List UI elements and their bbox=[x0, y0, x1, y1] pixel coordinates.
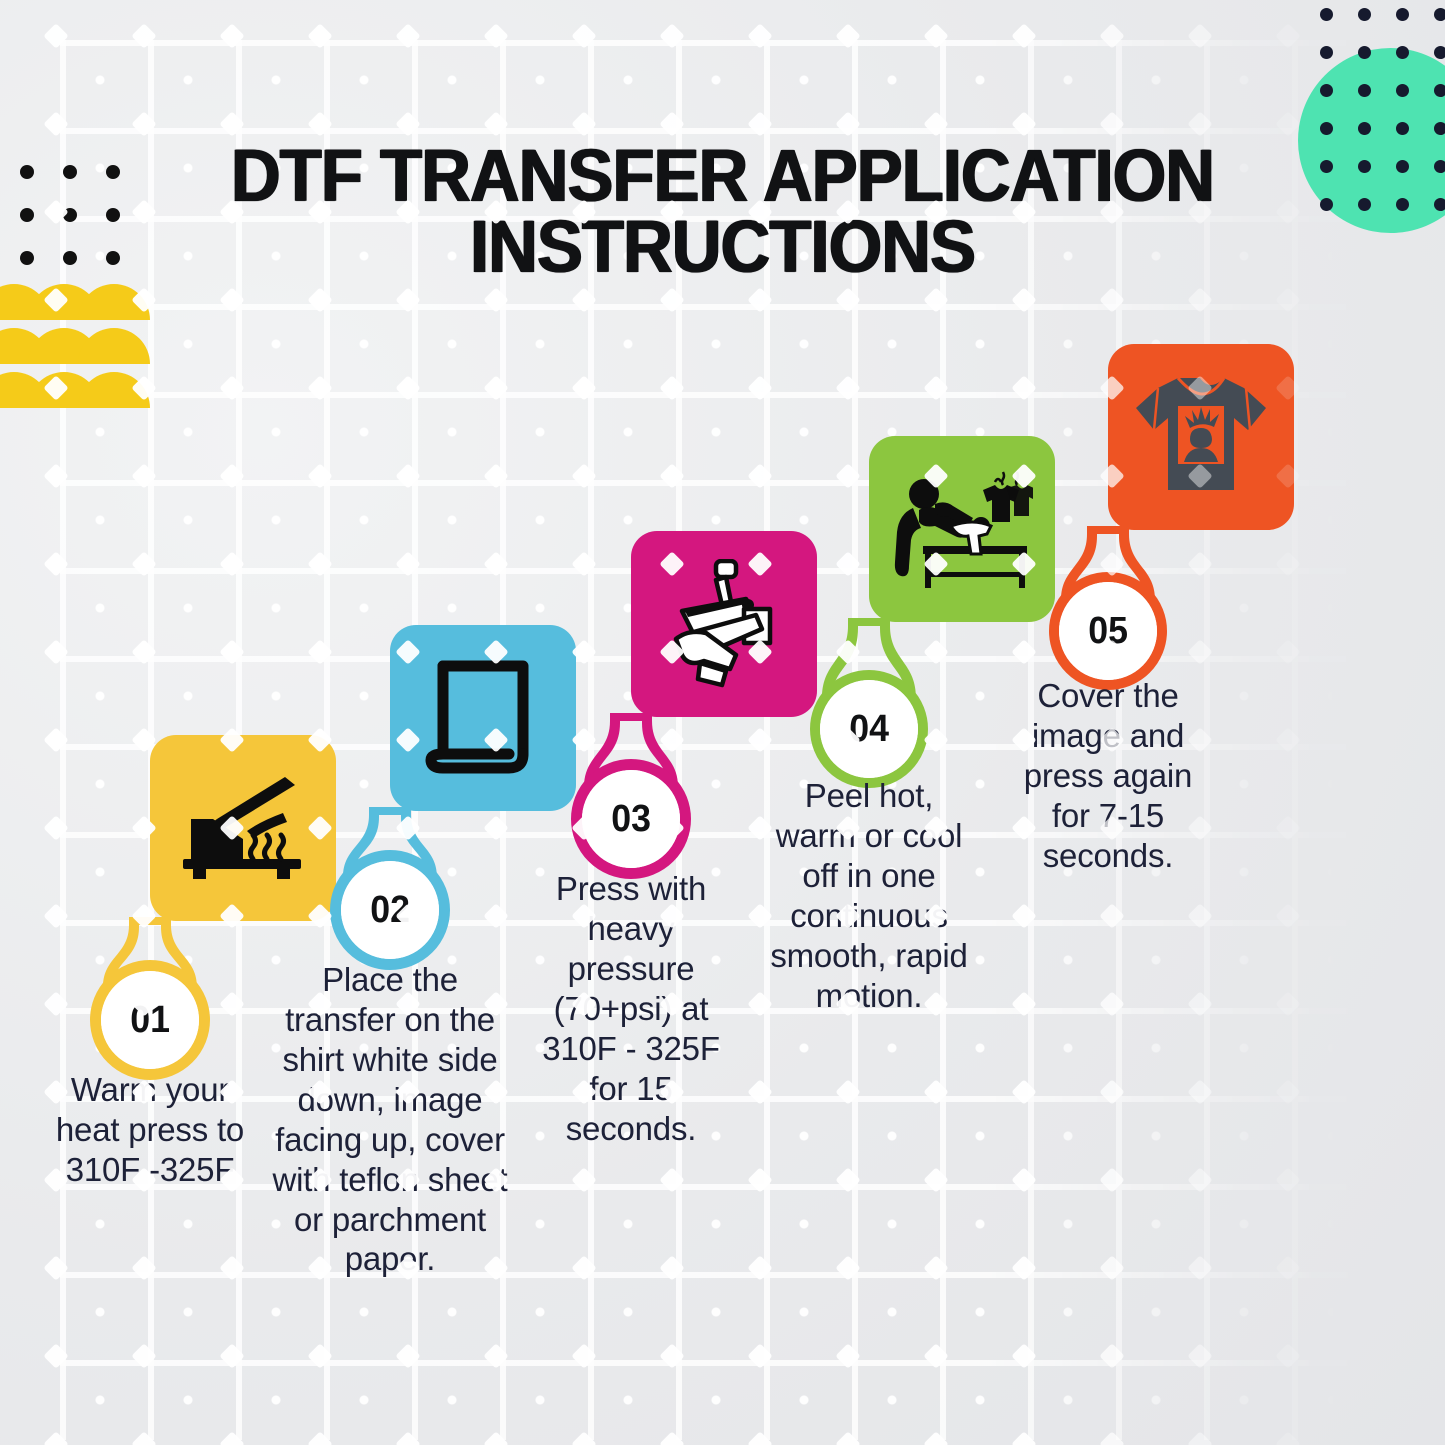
step-04-number: 04 bbox=[820, 680, 918, 778]
step-03-icon-card bbox=[631, 531, 817, 717]
step-05-icon-card bbox=[1108, 344, 1294, 530]
infographic-canvas: DTF TRANSFER APPLICATION INSTRUCTIONS bbox=[0, 0, 1445, 1445]
peel-transfer-person-icon bbox=[891, 468, 1033, 590]
page-title-line-1: DTF TRANSFER APPLICATION bbox=[51, 140, 1395, 211]
step-03-caption: Press with heavy pressure (70+psi) at 31… bbox=[524, 869, 739, 1148]
step-05-caption: Cover the image and press again for 7-15… bbox=[1008, 676, 1208, 876]
transfer-sheet-icon bbox=[424, 658, 542, 778]
step-03-number: 03 bbox=[582, 770, 680, 868]
step-04-icon-card bbox=[869, 436, 1055, 622]
step-02-caption: Place the transfer on the shirt white si… bbox=[265, 960, 515, 1279]
page-title-line-2: INSTRUCTIONS bbox=[51, 211, 1395, 282]
step-04-caption: Peel hot, warm or cool off in one contin… bbox=[769, 776, 969, 1016]
step-01-number: 01 bbox=[101, 971, 199, 1069]
heat-press-machine-icon bbox=[660, 559, 788, 689]
step-02-number: 02 bbox=[341, 861, 439, 959]
step-05-number: 05 bbox=[1059, 582, 1157, 680]
